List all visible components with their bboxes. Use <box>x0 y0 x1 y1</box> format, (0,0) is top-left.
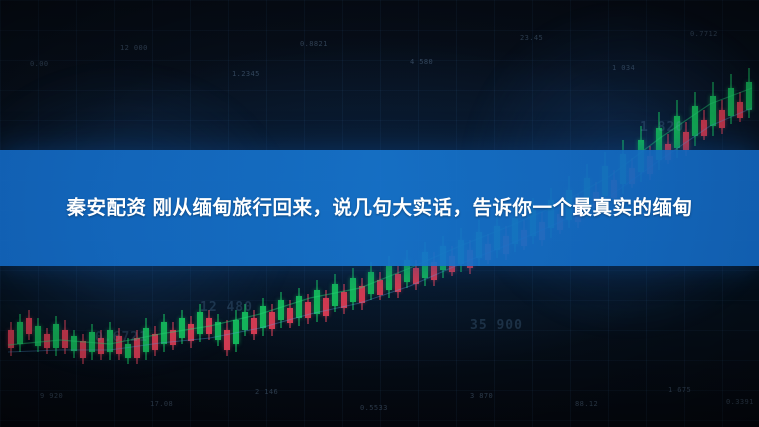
headline-band: 秦安配资 刚从缅甸旅行回来，说几句大实话，告诉你一个最真实的缅甸 <box>0 150 759 266</box>
candle-body <box>719 110 725 128</box>
candle-body <box>395 274 401 292</box>
candle-body <box>206 318 212 334</box>
headline-text: 秦安配资 刚从缅甸旅行回来，说几句大实话，告诉你一个最真实的缅甸 <box>67 191 693 225</box>
chart-label: 1.2345 <box>232 70 260 78</box>
candle-body <box>710 96 716 126</box>
candle-body <box>368 272 374 294</box>
candle-body <box>359 286 365 303</box>
candle-body <box>80 341 86 358</box>
candle-body <box>35 326 41 346</box>
candle-body <box>341 292 347 308</box>
candle-body <box>305 302 311 318</box>
chart-label: 0.5533 <box>360 404 388 412</box>
banner-image: 0.0012 0001.23450.88214 58023.451 0340.7… <box>0 0 759 427</box>
chart-label: 17.08 <box>150 400 173 408</box>
candle-body <box>386 266 392 290</box>
candle-body <box>44 334 50 348</box>
chart-label: 0.00 <box>30 60 48 68</box>
candle-body <box>152 334 158 350</box>
candle-body <box>323 298 329 316</box>
chart-label: 88.12 <box>575 400 598 408</box>
candle-body <box>692 106 698 136</box>
candle-body <box>728 88 734 116</box>
candle-body <box>287 308 293 323</box>
candle-body <box>314 290 320 314</box>
candle-body <box>8 330 14 348</box>
chart-price-label: 0.6721 <box>95 330 148 345</box>
chart-label: 1 675 <box>668 386 691 394</box>
candle-body <box>350 278 356 302</box>
candle-body <box>71 336 77 351</box>
candle-body <box>332 284 338 306</box>
candle-body <box>233 320 239 344</box>
chart-price-label: 35 900 <box>470 318 523 333</box>
chart-label: 0.7712 <box>690 30 718 38</box>
candle-body <box>197 312 203 334</box>
chart-label: 12 000 <box>120 44 148 52</box>
candle-body <box>125 344 131 358</box>
candle-body <box>161 322 167 344</box>
candle-body <box>701 120 707 136</box>
candle-body <box>746 82 752 110</box>
candle-body <box>260 306 266 328</box>
candle-body <box>278 300 284 320</box>
chart-label: 4 580 <box>410 58 433 66</box>
candle-body <box>53 324 59 348</box>
candle-body <box>17 322 23 344</box>
chart-label: 0.8821 <box>300 40 328 48</box>
candle-body <box>188 324 194 341</box>
chart-label: 9 920 <box>40 392 63 400</box>
candle-body <box>26 318 32 334</box>
chart-label: 1 034 <box>612 64 635 72</box>
candle-body <box>251 318 257 334</box>
candle-body <box>62 330 68 348</box>
chart-label: 2 146 <box>255 388 278 396</box>
candle-body <box>737 102 743 118</box>
candle-body <box>215 322 221 340</box>
candle-body <box>413 268 419 284</box>
chart-label: 23.45 <box>520 34 543 42</box>
chart-label: 3 870 <box>470 392 493 400</box>
chart-price-label: 1 820 <box>640 120 684 135</box>
candle-body <box>224 330 230 350</box>
candle-body <box>296 296 302 318</box>
chart-price-label: 12 480 <box>200 300 253 315</box>
candle-body <box>170 330 176 345</box>
candle-body <box>179 318 185 338</box>
candle-body <box>269 312 275 329</box>
candle-body <box>377 280 383 295</box>
chart-label: 0.3391 <box>726 398 754 406</box>
